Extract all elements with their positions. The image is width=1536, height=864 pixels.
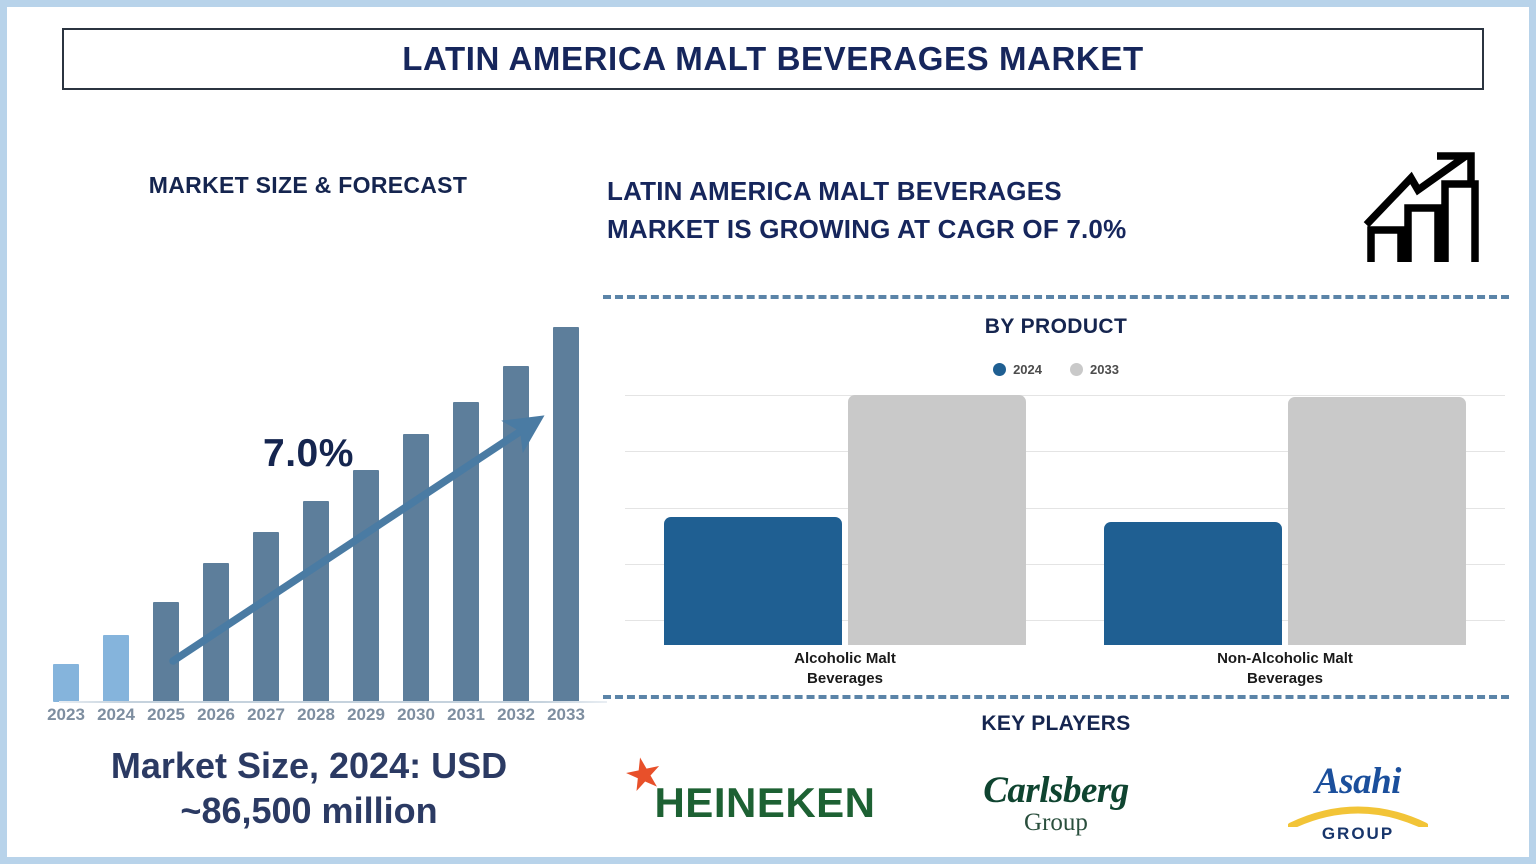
forecast-x-tick: 2028 <box>291 705 341 733</box>
cagr-headline: LATIN AMERICA MALT BEVERAGES MARKET IS G… <box>607 173 1347 248</box>
divider-top <box>603 295 1509 299</box>
market-size-line-1: Market Size, 2024: USD <box>111 745 507 786</box>
heineken-wordmark: HEINEKEN <box>632 779 875 827</box>
gridline <box>625 395 1505 396</box>
forecast-x-tick: 2025 <box>141 705 191 733</box>
bar-chart-growth-icon <box>1363 152 1483 270</box>
forecast-bar <box>403 434 429 702</box>
market-size-value: Market Size, 2024: USD ~86,500 million <box>29 743 589 833</box>
forecast-x-tick: 2029 <box>341 705 391 733</box>
right-panel: LATIN AMERICA MALT BEVERAGES MARKET IS G… <box>603 147 1513 859</box>
market-size-forecast-chart: 7.0% <box>41 277 591 702</box>
forecast-bar <box>103 635 129 702</box>
logo-heineken: ★ HEINEKEN <box>603 747 905 859</box>
forecast-x-tick: 2033 <box>541 705 591 733</box>
cagr-headline-line-1: LATIN AMERICA MALT BEVERAGES <box>607 176 1062 206</box>
forecast-bars-plot <box>41 277 591 702</box>
forecast-bar <box>203 563 229 702</box>
carlsberg-sub-label: Group <box>983 810 1129 835</box>
heineken-star-icon: ★ <box>620 749 668 800</box>
market-size-line-2: ~86,500 million <box>180 790 437 831</box>
title-box: LATIN AMERICA MALT BEVERAGES MARKET <box>62 28 1484 90</box>
legend-item: 2033 <box>1070 362 1119 377</box>
legend-label: 2033 <box>1090 362 1119 377</box>
left-panel-heading: MARKET SIZE & FORECAST <box>19 172 597 199</box>
legend-dot-gray <box>1070 363 1083 376</box>
forecast-bar <box>453 402 479 702</box>
forecast-bar <box>153 602 179 702</box>
by-product-category-labels: Alcoholic MaltBeveragesNon-Alcoholic Mal… <box>625 649 1505 697</box>
product-category-label: Alcoholic MaltBeverages <box>625 649 1065 697</box>
forecast-bar <box>53 664 79 702</box>
page-title: LATIN AMERICA MALT BEVERAGES MARKET <box>402 40 1143 78</box>
forecast-x-tick: 2031 <box>441 705 491 733</box>
infographic-page: LATIN AMERICA MALT BEVERAGES MARKET MARK… <box>0 0 1536 864</box>
forecast-bar <box>353 470 379 702</box>
forecast-baseline <box>59 701 607 703</box>
legend-label: 2024 <box>1013 362 1042 377</box>
market-size-forecast-panel: MARKET SIZE & FORECAST 7.0% 202320242025… <box>19 147 597 859</box>
product-bar <box>664 517 842 645</box>
legend-item: 2024 <box>993 362 1042 377</box>
cagr-annotation: 7.0% <box>263 432 354 476</box>
product-bar <box>1104 522 1282 645</box>
forecast-x-axis: 2023202420252026202720282029203020312032… <box>41 705 591 733</box>
forecast-bar <box>503 366 529 702</box>
forecast-bar <box>253 532 279 702</box>
forecast-x-tick: 2023 <box>41 705 91 733</box>
product-bar <box>848 395 1026 645</box>
forecast-x-tick: 2026 <box>191 705 241 733</box>
forecast-bar <box>553 327 579 702</box>
product-category-label: Non-Alcoholic MaltBeverages <box>1065 649 1505 697</box>
forecast-x-tick: 2027 <box>241 705 291 733</box>
legend-dot-blue <box>993 363 1006 376</box>
asahi-wordmark: Asahi <box>1283 763 1433 800</box>
key-players-heading: KEY PLAYERS <box>603 712 1509 736</box>
by-product-legend: 20242033 <box>603 362 1509 377</box>
forecast-bar <box>303 501 329 702</box>
carlsberg-wordmark: Carlsberg <box>983 772 1129 809</box>
forecast-x-tick: 2032 <box>491 705 541 733</box>
asahi-sub-label: GROUP <box>1283 824 1433 844</box>
logo-asahi: Asahi GROUP <box>1207 747 1509 859</box>
divider-bottom <box>603 695 1509 699</box>
forecast-x-tick: 2030 <box>391 705 441 733</box>
key-players-logos: ★ HEINEKEN Carlsberg Group Asahi GROUP <box>603 747 1509 859</box>
forecast-x-tick: 2024 <box>91 705 141 733</box>
by-product-heading: BY PRODUCT <box>603 315 1509 339</box>
by-product-chart <box>625 395 1505 645</box>
product-bar <box>1288 397 1466 645</box>
logo-carlsberg: Carlsberg Group <box>905 747 1207 859</box>
cagr-headline-line-2: MARKET IS GROWING AT CAGR OF 7.0% <box>607 214 1126 244</box>
